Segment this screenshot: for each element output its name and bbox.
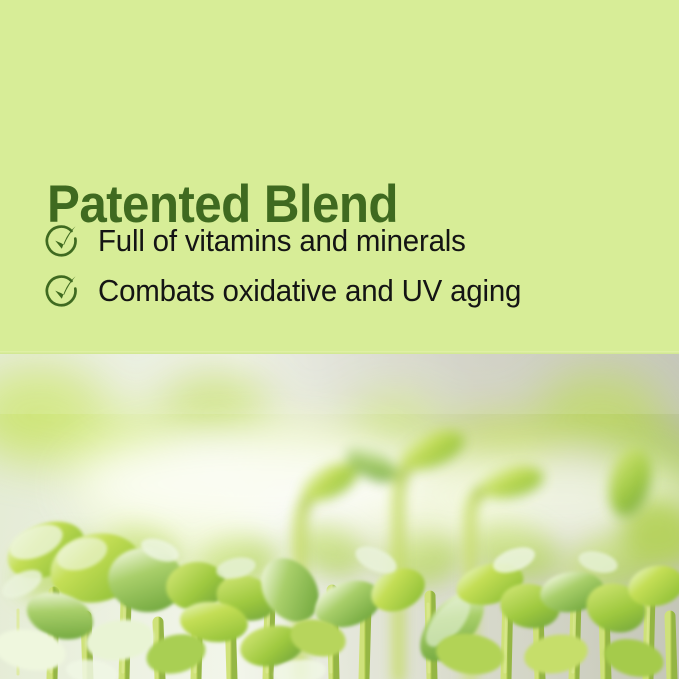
sprouts-photo (0, 354, 679, 679)
benefit-label: Combats oxidative and UV aging (98, 274, 521, 308)
check-circle-icon (44, 272, 82, 310)
check-circle-icon (44, 222, 82, 260)
product-infographic: Patented Blend of 6 Fresh Buds Full of v… (0, 0, 679, 679)
benefit-list: Full of vitamins and minerals Combats ox… (44, 216, 664, 316)
benefit-label: Full of vitamins and minerals (98, 224, 466, 258)
sprouts-illustration (0, 354, 679, 679)
marketing-banner-panel: Patented Blend of 6 Fresh Buds Full of v… (0, 0, 679, 354)
benefit-item-vitamins: Full of vitamins and minerals (44, 216, 664, 266)
benefit-item-antioxidant: Combats oxidative and UV aging (44, 266, 664, 316)
